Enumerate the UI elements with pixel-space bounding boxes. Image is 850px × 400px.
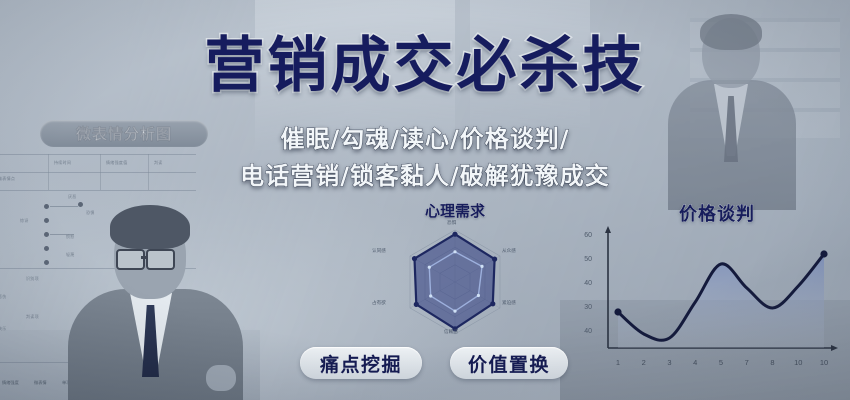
sheet-node-label-2: 厌恶: [68, 194, 77, 200]
page-title: 营销成交必杀技: [0, 36, 850, 96]
subtitle-line-1: 催眠/勾魂/读心/价格谈判/: [0, 119, 850, 154]
subtitle-line-1-text: 催眠/勾魂/读心/价格谈判/: [280, 125, 569, 153]
line-chart-y-label-4: 40: [576, 328, 592, 335]
line-chart-y-label-3: 30: [576, 304, 592, 311]
radar-chart: 心理需求 恐惧 从众感 紧迫感 信赖感 占有欲 认同感: [350, 200, 560, 350]
sheet-misc-2: 快乐: [0, 326, 7, 332]
tag-value-exchange[interactable]: 价值置换: [450, 347, 568, 379]
sheet-section-1: 识别项: [26, 276, 39, 282]
legend-item-1: 微表情: [34, 380, 47, 386]
line-chart-x-label-7: 10: [791, 358, 805, 367]
page-title-text: 营销成交必杀技: [205, 31, 646, 101]
tag-value-exchange-label: 价值置换: [468, 350, 550, 377]
line-chart-x-label-8: 10: [817, 358, 831, 367]
tag-pain-point-label: 痛点挖掘: [320, 350, 402, 377]
radar-axis-label-3: 信赖感: [444, 329, 458, 335]
radar-axis-label-4: 占有欲: [372, 300, 386, 306]
radar-axis-label-1: 从众感: [502, 248, 516, 254]
tag-pain-point[interactable]: 痛点挖掘: [300, 347, 422, 379]
glasses-icon: [116, 249, 145, 270]
line-chart-y-label-1: 50: [576, 256, 592, 263]
subtitle-line-2-text: 电话营销/锁客黏人/破解犹豫成交: [240, 162, 610, 190]
sheet-node-label: 惊讶: [20, 218, 29, 224]
line-chart-svg: [572, 222, 842, 372]
sheet-section-2: 判读项: [26, 314, 39, 320]
radar-axis-label-0: 恐惧: [447, 220, 456, 226]
line-chart-x-label-4: 5: [714, 358, 728, 367]
line-chart-x-label-2: 3: [663, 358, 677, 367]
line-chart-x-label-5: 7: [740, 358, 754, 367]
line-chart-x-label-3: 4: [688, 358, 702, 367]
line-chart-y-label-0: 60: [576, 232, 592, 239]
presenter-photo: [68, 205, 243, 400]
line-chart-y-label-2: 40: [576, 280, 592, 287]
legend-item-0: 情绪强度: [2, 380, 19, 386]
line-chart-x-label-6: 8: [766, 358, 780, 367]
subtitle-line-2: 电话营销/锁客黏人/破解犹豫成交: [0, 156, 850, 191]
radar-axis-label-2: 紧迫感: [502, 300, 516, 306]
line-chart-x-label-1: 2: [637, 358, 651, 367]
sheet-misc-1: 悲伤: [0, 294, 7, 300]
marketing-banner: 微表情点 持续时间 情绪强度值 判读 惊讶 厌恶 恐惧 愤怒 轻蔑 识别项 判读…: [0, 0, 850, 400]
radar-axis-label-5: 认同感: [372, 248, 386, 254]
glasses-icon-right: [146, 249, 175, 270]
line-chart: 价格谈判 60 50 40 30 40 12345781010: [572, 200, 842, 385]
line-chart-x-label-0: 1: [611, 358, 625, 367]
